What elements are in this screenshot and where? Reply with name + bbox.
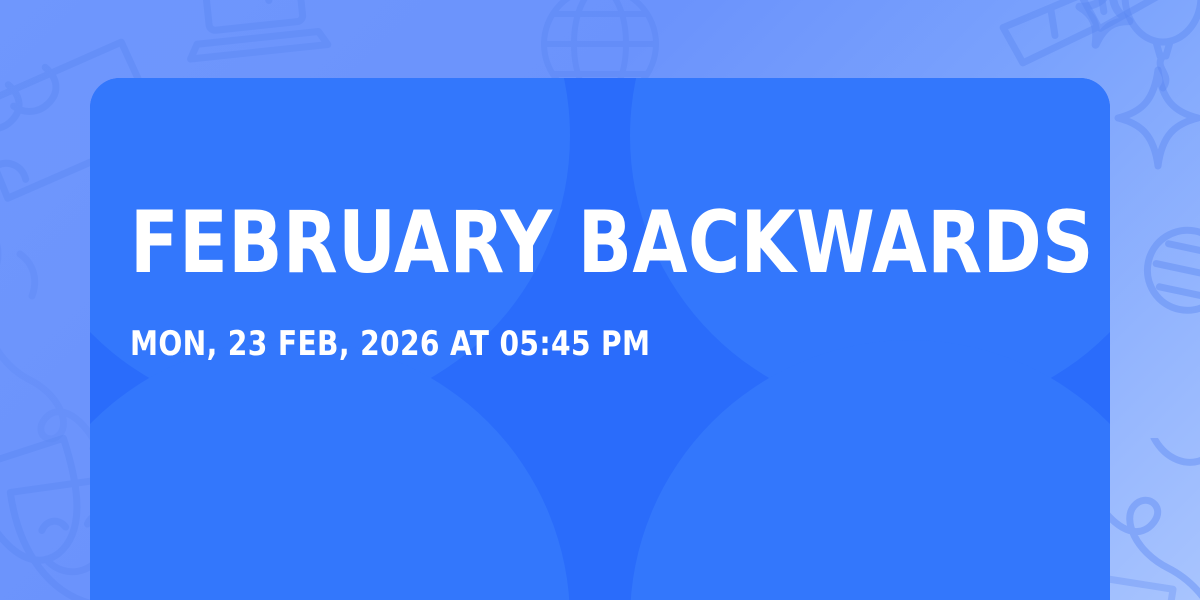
event-card: FEBRUARY BACKWARDS MEETING MON, 23 FEB, … [90, 78, 1110, 600]
event-title: FEBRUARY BACKWARDS MEETING [130, 202, 995, 285]
microphone-icon [1114, 210, 1200, 384]
sparkle-icon [1110, 62, 1200, 174]
event-datetime: MON, 23 FEB, 2026 AT 05:45 PM [130, 327, 995, 361]
confetti-icon [0, 210, 60, 330]
event-card-content: FEBRUARY BACKWARDS MEETING MON, 23 FEB, … [130, 78, 1070, 600]
laptop-icon [174, 0, 336, 80]
